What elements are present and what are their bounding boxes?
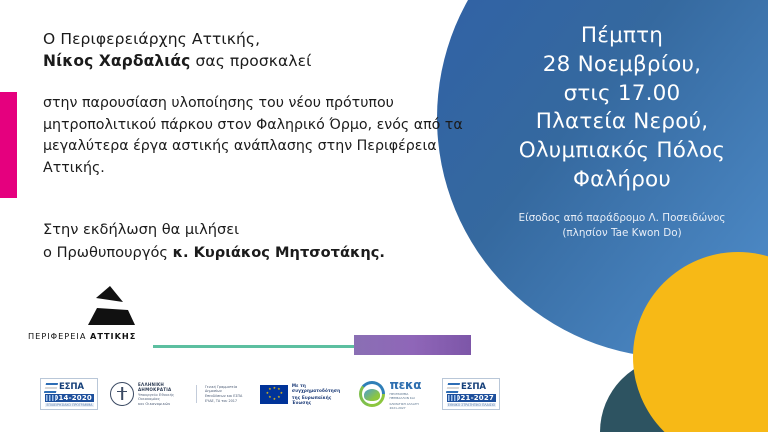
hellenic-side-3: ΕΥΔΕ, ΤΑ του 2017: [205, 399, 246, 403]
event-day: Πέμπτη: [476, 22, 768, 51]
event-access-note: Είσοδος από παράδρομο Λ. Ποσειδώνος (πλη…: [476, 211, 768, 241]
espa-footnote: ΕΠΙΧΕΙΡΗΣΙΑΚΟ ΠΡΟΓΡΑΜΜΑ: [45, 403, 94, 407]
hellenic-side-2: Επενδύσεων και ΕΣΠΑ: [205, 394, 246, 398]
speaker-name: κ. Κυριάκος Μητσοτάκης.: [173, 244, 385, 261]
hellenic-line-2: Υπουργείο Εθνικής Οικονομίας: [138, 393, 188, 401]
invitation-poster: Ο Περιφερειάρχης Αττικής, Νίκος Χαρδαλιά…: [0, 0, 768, 432]
region-label-bold: ΑΤΤΙΚΗΣ: [90, 331, 136, 341]
eu-flag-icon: ★ ★ ★ ★ ★ ★ ★ ★: [260, 385, 288, 404]
peka-leaf-icon: [359, 381, 385, 407]
event-note-1: Είσοδος από παράδρομο Λ. Ποσειδώνος: [476, 211, 768, 226]
peka-text: πεκα ΠΡΟΓΡΑΜΜΑ ΠΕΡΙΒΑΛΛΟΝ ΚΑΙ ΚΛΙΜΑΤΙΚΗ …: [389, 379, 426, 410]
green-rule: [153, 345, 355, 348]
speaker-line-2-prefix: ο Πρωθυπουργός: [43, 244, 173, 261]
espa-flag-icon: [446, 383, 460, 393]
hellenic-line-3: και Οικονομικών: [138, 402, 188, 406]
peka-wordmark: πεκα: [389, 379, 426, 391]
magenta-accent-bar: [0, 92, 17, 198]
hellenic-side-1: Γενική Γραμματεία Δημοσίων: [205, 385, 246, 393]
eu-line-1: Με τη συγχρηματοδότηση: [292, 383, 344, 393]
logo-hellenic-republic: ΕΛΛΗΝΙΚΗ ΔΗΜΟΚΡΑΤΙΑ Υπουργείο Εθνικής Οι…: [110, 382, 246, 406]
acropolis-mark-icon: [80, 284, 142, 328]
inviter-name: Νίκος Χαρδαλιάς: [43, 52, 190, 70]
region-logo-label: ΠΕΡΙΦΕΡΕΙΑ ΑΤΤΙΚΗΣ: [28, 331, 136, 341]
invitation-lead: Ο Περιφερειάρχης Αττικής, Νίκος Χαρδαλιά…: [43, 28, 463, 73]
event-date: 28 Νοεμβρίου,: [476, 51, 768, 80]
espa-wordmark: ΕΣΠΑ: [59, 383, 84, 392]
espa-badge: ΕΣΠΑ 2021-2027 ΕΘΝΙΚΟ ΣΤΡΑΤΗΓΙΚΟ ΠΛΑΙΣΙΟ: [442, 378, 500, 410]
speaker-line-1: Στην εκδήλωση θα μιλήσει: [43, 221, 239, 238]
hellenic-republic-lines: ΕΛΛΗΝΙΚΗ ΔΗΜΟΚΡΑΤΙΑ Υπουργείο Εθνικής Οι…: [138, 382, 188, 406]
hellenic-republic-seal-icon: [110, 382, 134, 406]
invitation-body: στην παρουσίαση υλοποίησης του νέου πρότ…: [43, 93, 463, 179]
espa-period-band: 2014-2020: [45, 394, 94, 402]
logo-espa-2021-2027: ΕΣΠΑ 2021-2027 ΕΘΝΙΚΟ ΣΤΡΑΤΗΓΙΚΟ ΠΛΑΙΣΙΟ: [442, 378, 500, 410]
purple-bar: [354, 335, 471, 355]
lead-line-1: Ο Περιφερειάρχης Αττικής,: [43, 30, 260, 48]
hellenic-secretariat-lines: Γενική Γραμματεία Δημοσίων Επενδύσεων κα…: [205, 385, 246, 403]
event-venue-3: Φαλήρου: [476, 166, 768, 195]
region-of-attica-logo: ΠΕΡΙΦΕΡΕΙΑ ΑΤΤΙΚΗΣ: [28, 284, 198, 350]
peka-sub-1: ΠΡΟΓΡΑΜΜΑ ΠΕΡΙΒΑΛΛΟΝ ΚΑΙ: [389, 392, 426, 400]
espa-badge: ΕΣΠΑ 2014-2020 ΕΠΙΧΕΙΡΗΣΙΑΚΟ ΠΡΟΓΡΑΜΜΑ: [40, 378, 98, 410]
lead-rest: σας προσκαλεί: [190, 52, 311, 70]
espa-badge-top: ΕΣΠΑ: [447, 382, 496, 393]
peka-sub-2: ΚΛΙΜΑΤΙΚΗ ΑΛΛΑΓΗ 2021-2027: [389, 402, 426, 410]
espa-badge-top: ΕΣΠΑ: [45, 382, 94, 393]
espa-dots-icon: [448, 395, 458, 401]
invitation-text-block: Ο Περιφερειάρχης Αττικής, Νίκος Χαρδαλιά…: [43, 28, 463, 179]
eu-line-2: της Ευρωπαϊκής Ένωσης: [292, 395, 344, 405]
speaker-announcement: Στην εκδήλωση θα μιλήσει ο Πρωθυπουργός …: [43, 218, 473, 265]
logo-peka: πεκα ΠΡΟΓΡΑΜΜΑ ΠΕΡΙΒΑΛΛΟΝ ΚΑΙ ΚΛΙΜΑΤΙΚΗ …: [359, 379, 426, 410]
event-venue-2: Ολυμπιακός Πόλος: [476, 137, 768, 166]
event-venue-1: Πλατεία Νερού,: [476, 108, 768, 137]
logo-european-union: ★ ★ ★ ★ ★ ★ ★ ★ Με τη συγχρηματοδότηση τ…: [260, 383, 344, 404]
espa-dots-icon: [46, 395, 56, 401]
espa-wordmark: ΕΣΠΑ: [461, 383, 486, 392]
event-note-2: (πλησίον Tae Kwon Do): [476, 226, 768, 241]
event-when: Πέμπτη 28 Νοεμβρίου, στις 17.00 Πλατεία …: [476, 22, 768, 195]
event-time: στις 17.00: [476, 80, 768, 109]
logo-espa-2014-2020: ΕΣΠΑ 2014-2020 ΕΠΙΧΕΙΡΗΣΙΑΚΟ ΠΡΟΓΡΑΜΜΑ: [40, 378, 98, 410]
espa-footnote: ΕΘΝΙΚΟ ΣΤΡΑΤΗΓΙΚΟ ΠΛΑΙΣΙΟ: [447, 403, 496, 407]
hellenic-line-1: ΕΛΛΗΝΙΚΗ ΔΗΜΟΚΡΑΤΙΑ: [138, 382, 188, 392]
event-details-block: Πέμπτη 28 Νοεμβρίου, στις 17.00 Πλατεία …: [476, 22, 768, 241]
espa-flag-icon: [44, 383, 58, 393]
espa-period-band: 2021-2027: [447, 394, 496, 402]
logo-divider: [196, 385, 197, 403]
funding-logos-row: ΕΣΠΑ 2014-2020 ΕΠΙΧΕΙΡΗΣΙΑΚΟ ΠΡΟΓΡΑΜΜΑ Ε…: [40, 374, 500, 414]
region-label-light: ΠΕΡΙΦΕΡΕΙΑ: [28, 331, 90, 341]
eu-cofunding-text: Με τη συγχρηματοδότηση της Ευρωπαϊκής Έν…: [292, 383, 344, 404]
